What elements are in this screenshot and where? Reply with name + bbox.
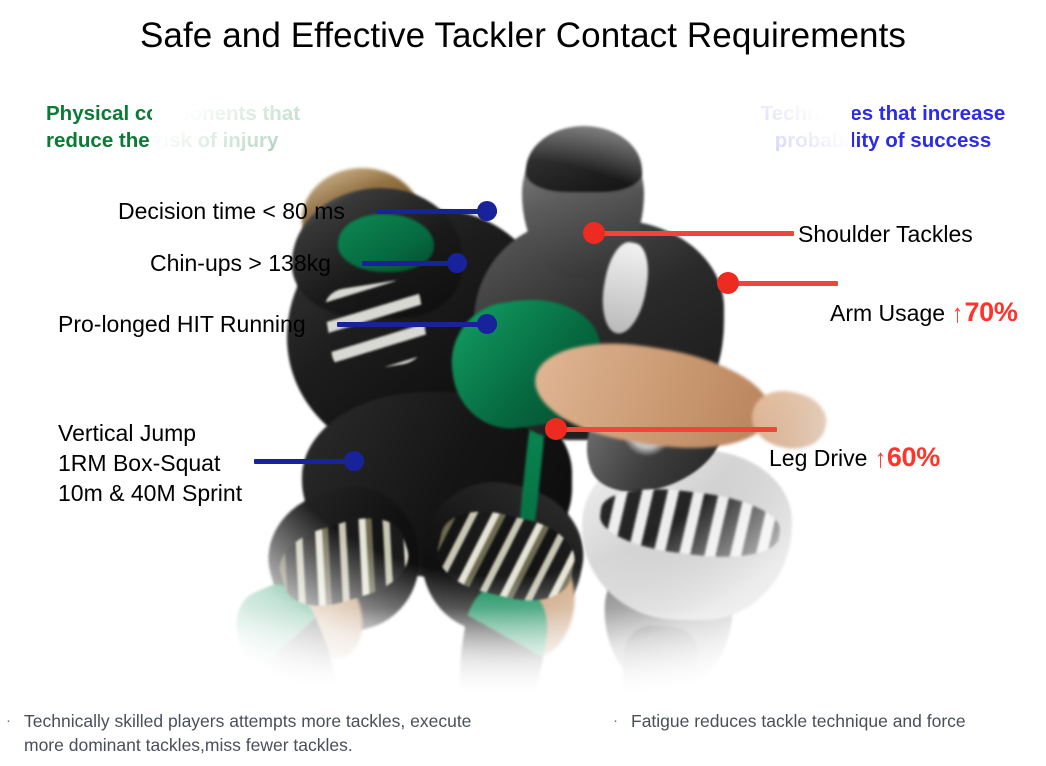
connector-line	[594, 231, 794, 236]
connector-dot	[717, 272, 739, 294]
stat-arm-usage: 70%	[964, 297, 1017, 327]
connector-dot	[477, 201, 497, 221]
label-shoulder-tackles: Shoulder Tackles	[798, 219, 973, 249]
footnote-left-text: Technically skilled players attempts mor…	[24, 709, 471, 757]
slide-canvas: Safe and Effective Tackler Contact Requi…	[0, 0, 1046, 766]
connector-line	[557, 427, 777, 432]
bullet-icon: ·	[613, 709, 618, 733]
label-hit-running: Pro-longed HIT Running	[58, 309, 306, 339]
arrow-up-icon: ↑	[952, 298, 963, 328]
connector-line	[728, 281, 838, 286]
rugby-tackle-photo	[152, 92, 852, 692]
connector-dot	[583, 222, 605, 244]
carrier-sock	[618, 624, 699, 692]
connector-dot	[447, 253, 467, 273]
arrow-up-icon: ↑	[875, 443, 886, 473]
label-arm-usage-text: Arm Usage	[830, 300, 951, 326]
carrier-arm	[528, 330, 778, 462]
connector-dot	[477, 314, 497, 334]
connector-dot	[545, 418, 567, 440]
footnote-right: · Fatigue reduces tackle technique and f…	[613, 709, 1043, 733]
label-strength-tests: Vertical Jump 1RM Box-Squat 10m & 40M Sp…	[58, 418, 242, 508]
connector-dot	[344, 451, 364, 471]
connector-line	[337, 322, 497, 327]
page-title: Safe and Effective Tackler Contact Requi…	[0, 14, 1046, 58]
label-arm-usage: Arm Usage ↑70%	[830, 267, 1018, 328]
footnote-right-text: Fatigue reduces tackle technique and for…	[631, 709, 966, 733]
label-leg-drive-text: Leg Drive	[769, 445, 874, 471]
carrier-hair-shape	[526, 126, 642, 192]
footnote-left: · Technically skilled players attempts m…	[6, 709, 586, 757]
bullet-icon: ·	[6, 709, 11, 757]
label-leg-drive: Leg Drive ↑60%	[769, 412, 940, 473]
label-decision-time: Decision time < 80 ms	[118, 196, 345, 226]
label-chin-ups: Chin-ups > 138kg	[150, 248, 331, 278]
stat-leg-drive: 60%	[887, 442, 940, 472]
